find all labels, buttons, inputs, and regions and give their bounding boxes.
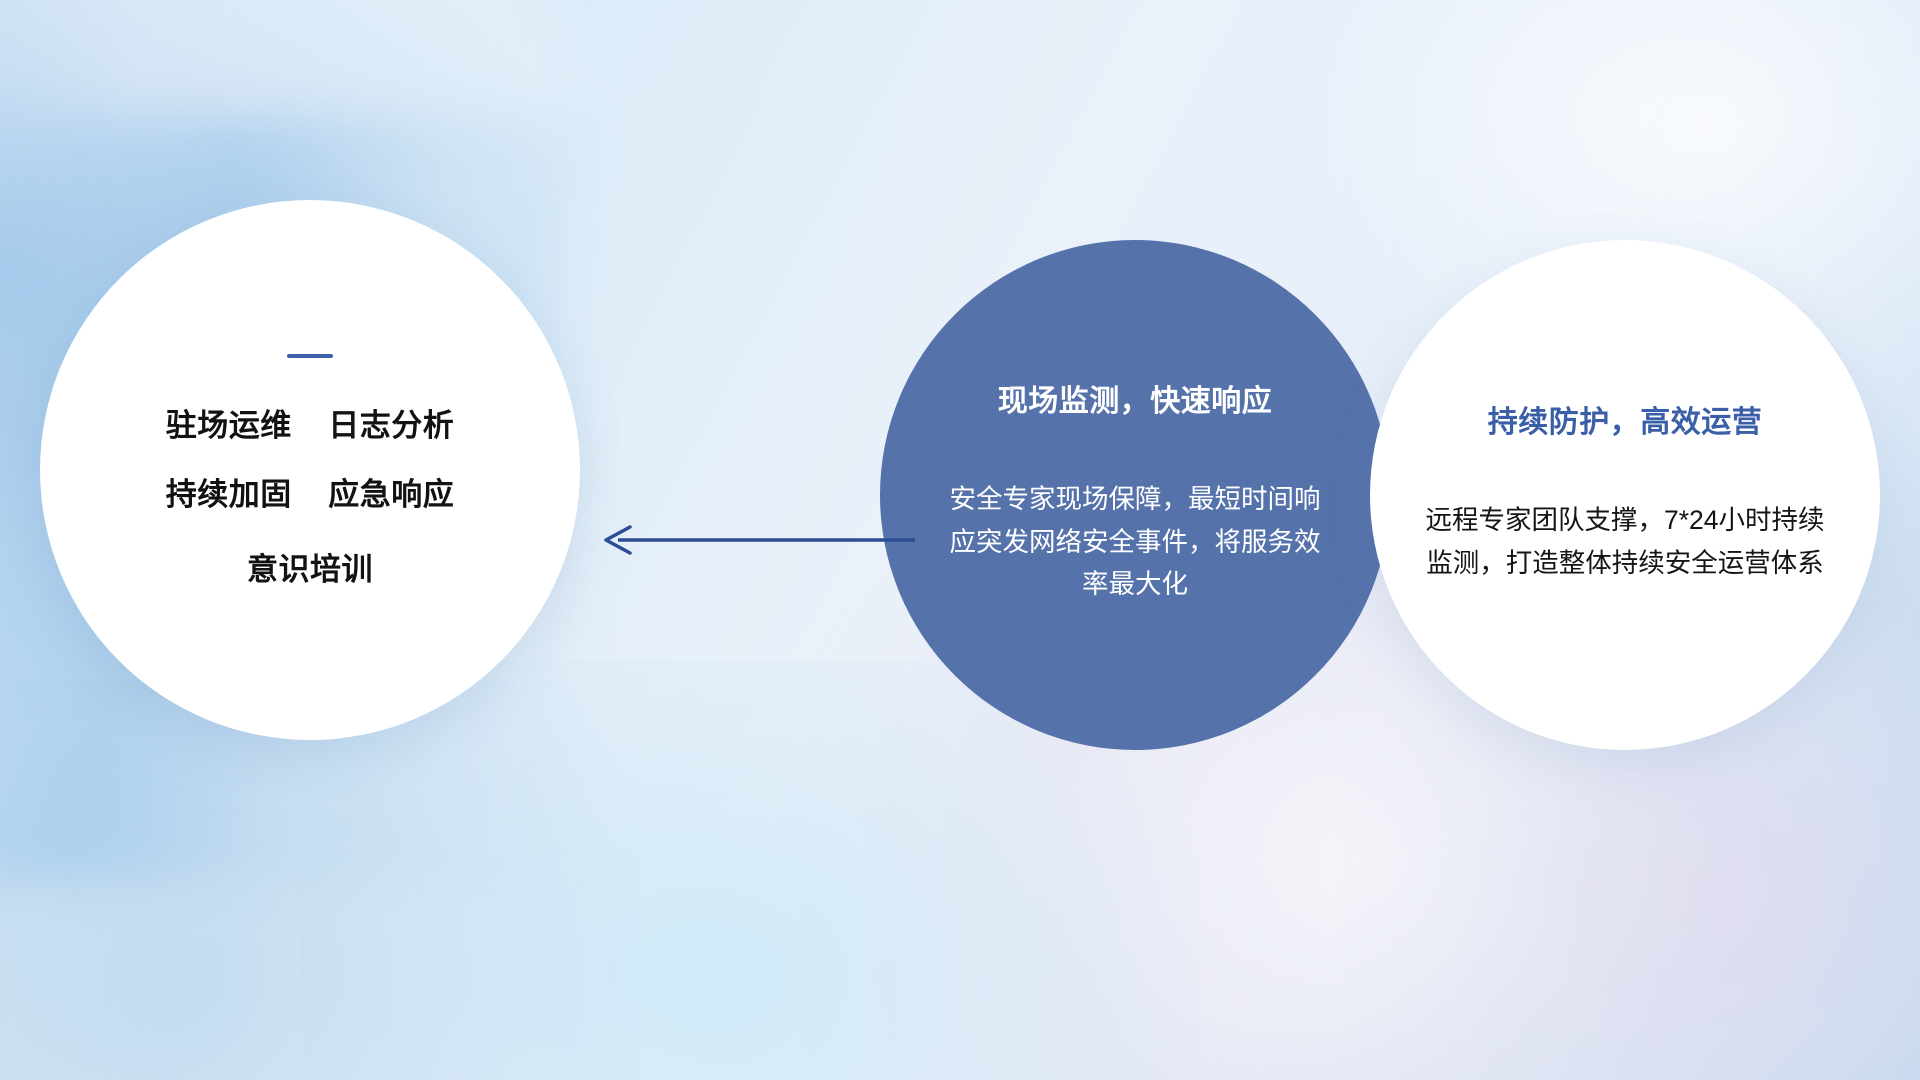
circle-continuous-protection[interactable]: 持续防护，高效运营 远程专家团队支撑，7*24小时持续监测，打造整体持续安全运营… (1370, 240, 1880, 750)
circle-onsite-monitoring[interactable]: 现场监测，快速响应 安全专家现场保障，最短时间响应突发网络安全事件，将服务效率最… (880, 240, 1390, 750)
capability-line-2: 持续加固 应急响应 (166, 479, 454, 512)
three-circle-flow-diagram: 驻场运维 日志分析 持续加固 应急响应 意识培训 现场监测，快速响应 安全专家现… (0, 0, 1920, 1080)
divider-dash (287, 354, 333, 358)
circle-middle-body: 安全专家现场保障，最短时间响应突发网络安全事件，将服务效率最大化 (945, 478, 1325, 607)
circle-capabilities[interactable]: 驻场运维 日志分析 持续加固 应急响应 意识培训 (40, 200, 580, 740)
circle-middle-title: 现场监测，快速响应 (998, 384, 1273, 420)
circle-right-body: 远程专家团队支撑，7*24小时持续监测，打造整体持续安全运营体系 (1425, 499, 1825, 585)
capability-line-1: 驻场运维 日志分析 (166, 410, 454, 443)
circle-right-title: 持续防护，高效运营 (1488, 405, 1763, 441)
flow-arrow-left-icon (590, 505, 920, 575)
capability-line-3: 意识培训 (247, 554, 373, 587)
